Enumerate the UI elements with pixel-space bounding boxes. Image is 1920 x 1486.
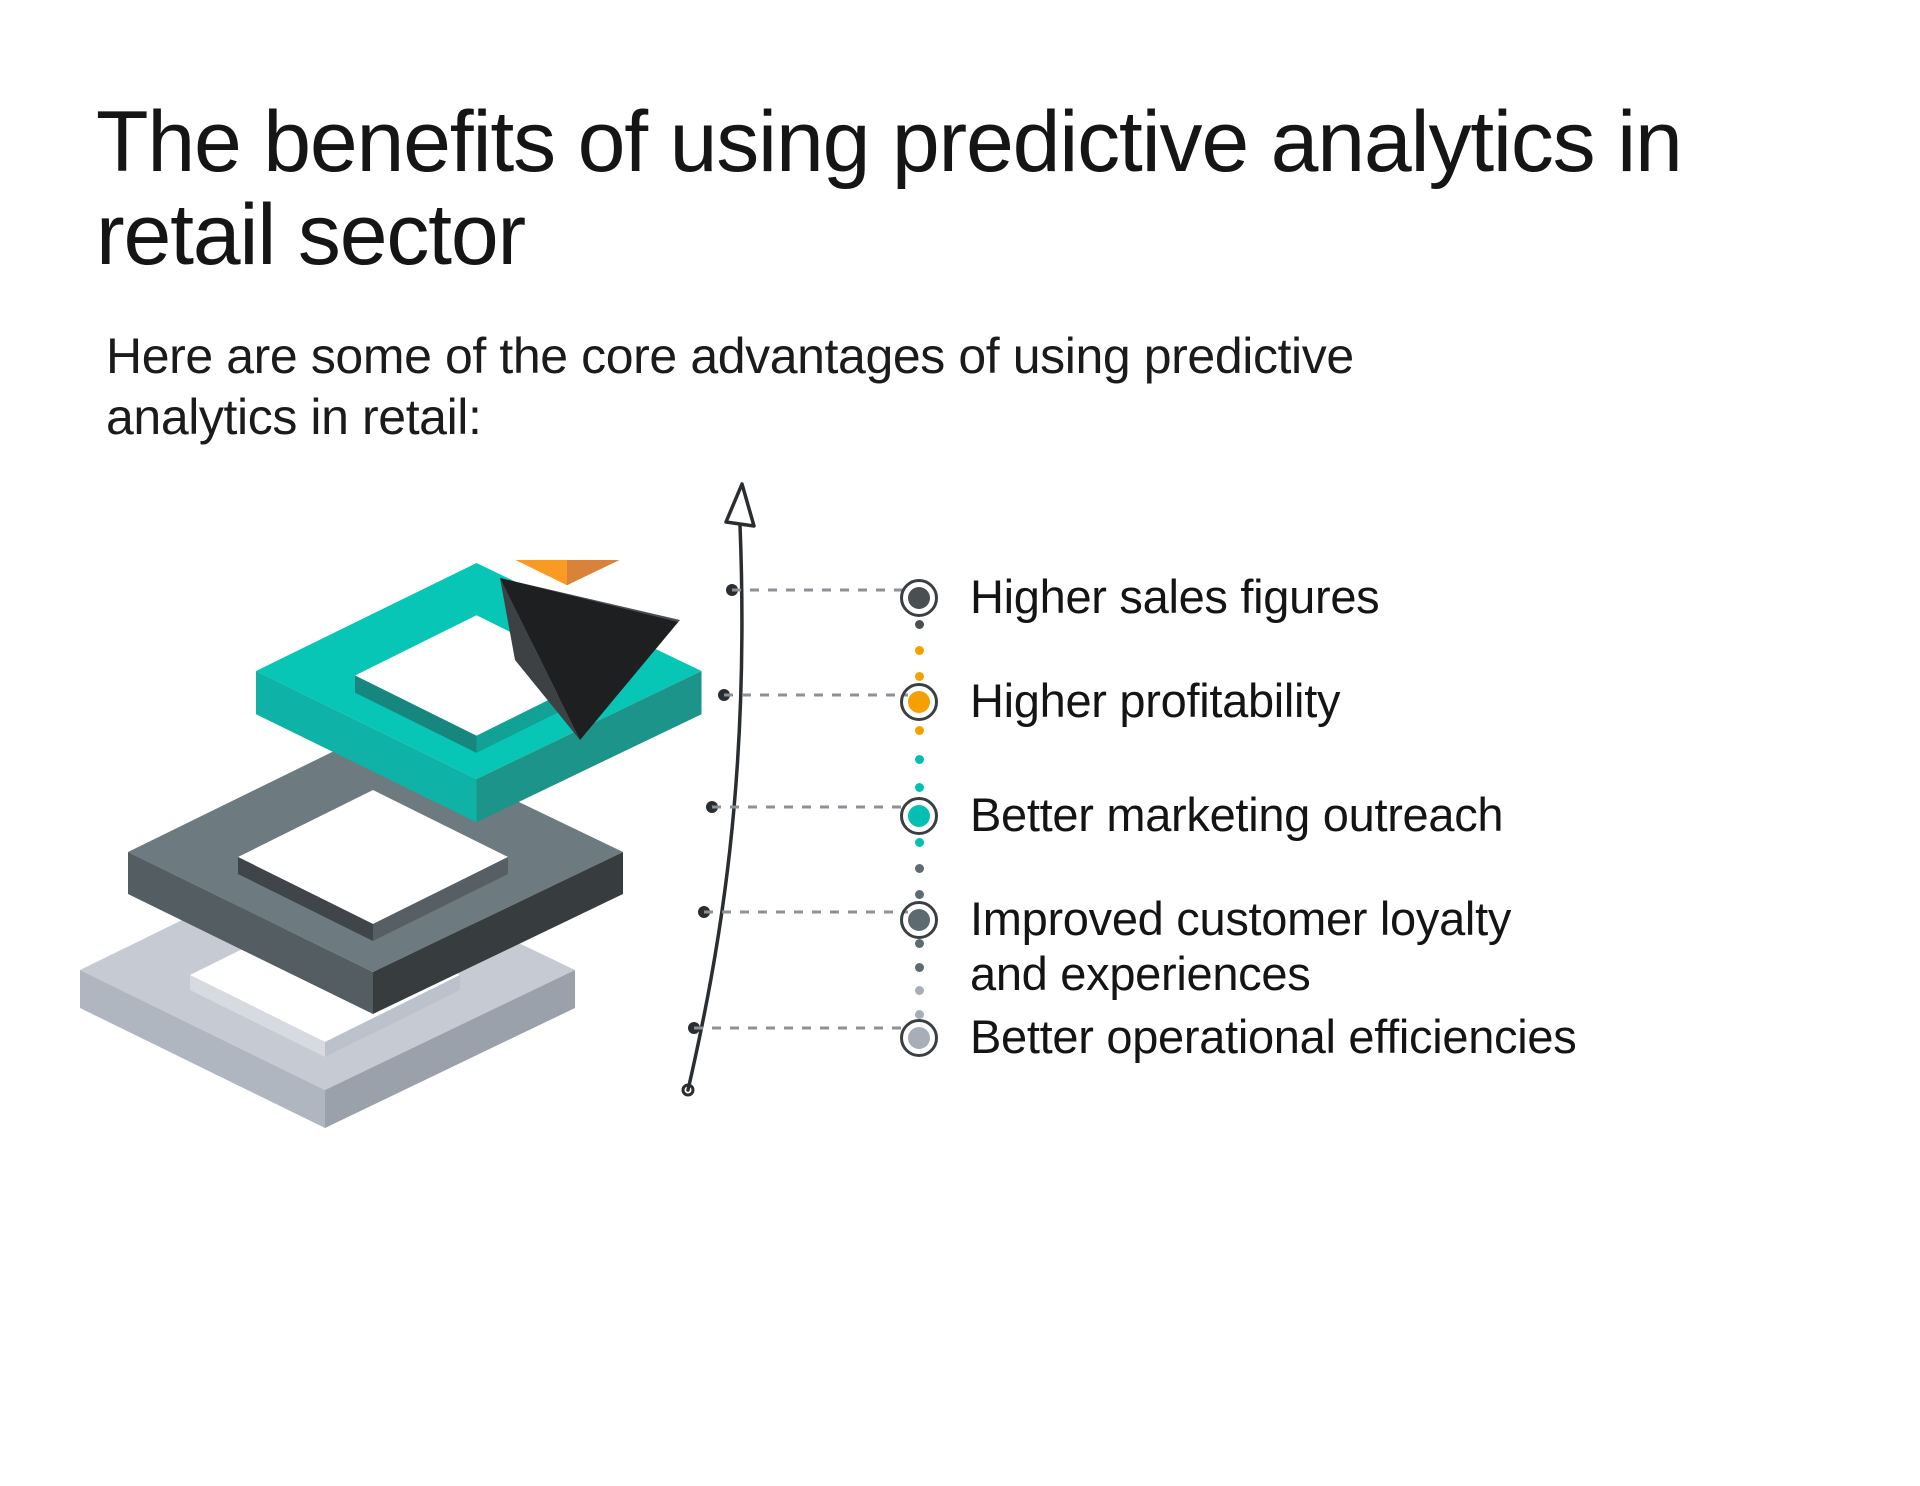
arrow-head-icon [726, 484, 754, 526]
bullet-marker-icon [900, 901, 938, 939]
bullet-marker-icon [900, 1019, 938, 1057]
benefit-label: Higher profitability [970, 674, 1340, 729]
header-block: The benefits of using predictive analyti… [96, 96, 1736, 448]
benefit-label: Improved customer loyalty and experience… [970, 892, 1511, 1002]
benefit-label: Better marketing outreach [970, 788, 1503, 843]
benefit-item-1[interactable]: Higher sales figures [900, 570, 1379, 625]
bullet-marker-icon [900, 683, 938, 721]
benefit-item-5[interactable]: Better operational efficiencies [900, 1010, 1576, 1065]
bullet-marker-icon [900, 797, 938, 835]
benefits-list: Higher sales figures Higher profitabilit… [900, 480, 1900, 1140]
benefit-item-2[interactable]: Higher profitability [900, 674, 1340, 729]
bullet-marker-icon [900, 579, 938, 617]
stacked-frames-illustration [60, 560, 780, 1180]
page-subtitle: Here are some of the core advantages of … [96, 326, 1356, 448]
benefit-label: Higher sales figures [970, 570, 1379, 625]
benefit-item-3[interactable]: Better marketing outreach [900, 788, 1503, 843]
benefit-item-4[interactable]: Improved customer loyalty and experience… [900, 892, 1511, 1002]
page-title: The benefits of using predictive analyti… [96, 96, 1696, 282]
infographic-canvas: The benefits of using predictive analyti… [0, 0, 1920, 1486]
benefit-label: Better operational efficiencies [970, 1010, 1576, 1065]
